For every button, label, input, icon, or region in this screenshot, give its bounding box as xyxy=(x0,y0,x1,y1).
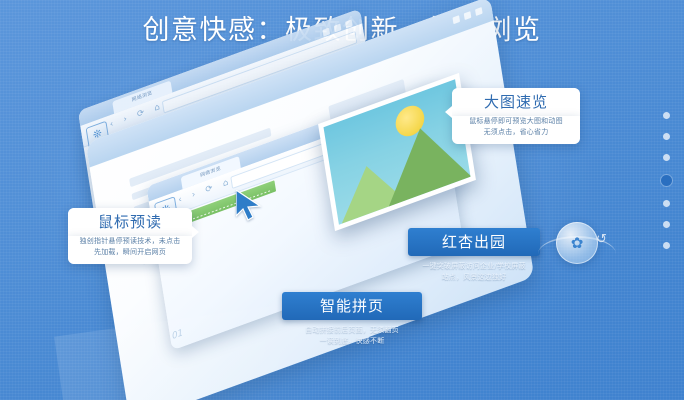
callout-tail xyxy=(192,226,199,238)
callout-description: 独创指针悬停预读技术，未点击 先加载，瞬间开启网页 xyxy=(76,236,184,258)
callout-big-image-preview: 大图速览 鼠标悬停即可预览大图和动图 无须点击，省心省力 xyxy=(452,88,580,144)
callout-title: 智能拼页 xyxy=(282,292,422,320)
callout-shell: 大图速览 鼠标悬停即可预览大图和动图 无须点击，省心省力 xyxy=(452,88,580,144)
callout-smart-page-stitching: 智能拼页 自动拼接前后页面，无须翻页 一读到底，快感不断 xyxy=(282,292,422,347)
refresh-icon: ↺ xyxy=(596,232,607,247)
callout-shell: 鼠标预读 独创指针悬停预读技术，未点击 先加载，瞬间开启网页 xyxy=(68,208,192,264)
flower-icon: ✿ xyxy=(571,236,584,251)
callout-mouse-preread: 鼠标预读 独创指针悬停预读技术，未点击 先加载，瞬间开启网页 xyxy=(68,208,192,264)
callout-description: 一键突破屏蔽访问企业/学校屏蔽 站点，风景这边独好 xyxy=(408,261,540,283)
promo-banner: 创意快感：极致创新，极速浏览 网络浏览 ❊ ‹ › ⟳ ⌂ ↰ 网络浏览 ❊ ‹… xyxy=(0,0,684,400)
pagination-dot-active[interactable] xyxy=(661,175,672,186)
callout-unblock-sites: 红杏出园 一键突破屏蔽访问企业/学校屏蔽 站点，风景这边独好 xyxy=(408,228,540,283)
pagination-dot[interactable] xyxy=(663,200,670,207)
callout-description: 自动拼接前后页面，无须翻页 一读到底，快感不断 xyxy=(282,325,422,347)
pagination-dot[interactable] xyxy=(663,221,670,228)
pagination-dot[interactable] xyxy=(663,133,670,140)
callout-tail xyxy=(445,106,452,118)
callout-title: 红杏出园 xyxy=(408,228,540,256)
callout-body: 独创指针悬停预读技术，未点击 先加载，瞬间开启网页 xyxy=(68,236,192,264)
feature-badge[interactable]: ✿ xyxy=(556,222,598,264)
window-controls[interactable] xyxy=(452,7,482,24)
pagination-dot[interactable] xyxy=(663,154,670,161)
callout-title: 大图速览 xyxy=(452,88,580,116)
callout-body: 鼠标悬停即可预览大图和动图 无须点击，省心省力 xyxy=(452,116,580,144)
pagination-dot[interactable] xyxy=(663,112,670,119)
callout-description: 鼠标悬停即可预览大图和动图 无须点击，省心省力 xyxy=(460,116,572,138)
pagination-dot[interactable] xyxy=(663,242,670,249)
pagination-dots[interactable] xyxy=(661,112,672,249)
callout-title: 鼠标预读 xyxy=(68,208,192,236)
